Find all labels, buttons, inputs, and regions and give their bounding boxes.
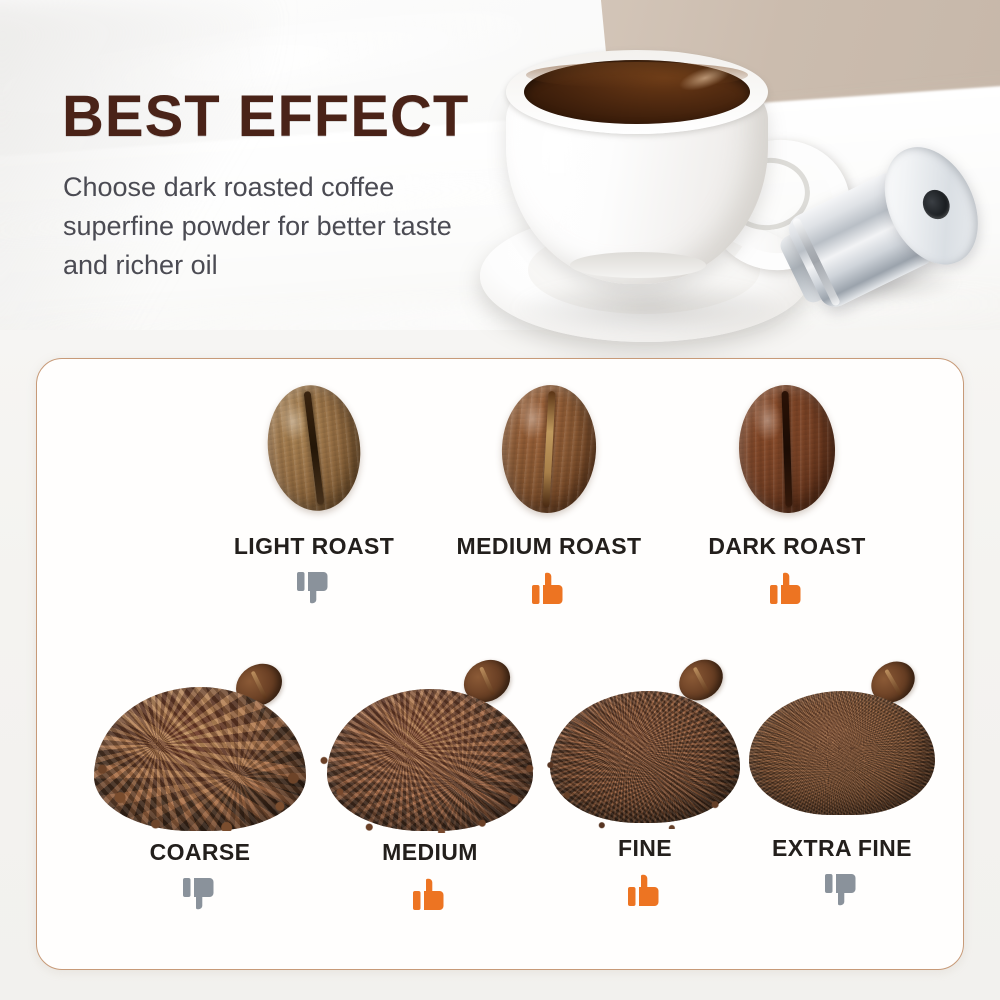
thumbs-down-icon (824, 872, 860, 915)
roast-label: MEDIUM ROAST (414, 533, 684, 560)
roast-label: LIGHT ROAST (179, 533, 449, 560)
grind-row: COARSE MEDIUM (37, 647, 963, 959)
roast-item-light: LIGHT ROAST (179, 385, 449, 613)
cup-highlight (536, 116, 578, 236)
grind-label: EXTRA FINE (727, 835, 957, 862)
grind-item-extra-fine: EXTRA FINE (727, 663, 957, 915)
thumbs-up-icon (769, 570, 805, 613)
comparison-card: LIGHT ROAST MEDIUM ROAST (36, 358, 964, 970)
thumbs-down-icon (182, 876, 218, 919)
thumbs-up-icon (531, 570, 567, 613)
page-subtitle: Choose dark roasted coffee superfine pow… (63, 168, 483, 285)
thumbs-up-icon (627, 872, 663, 915)
infographic-root: BEST EFFECT Choose dark roasted coffee s… (0, 0, 1000, 1000)
cup-foot (570, 252, 706, 278)
hero-product-scene (440, 20, 1000, 350)
roast-item-dark: DARK ROAST (652, 385, 922, 613)
thumbs-down-icon (296, 570, 332, 613)
cup-shadow (510, 278, 790, 338)
grind-mound (749, 691, 935, 815)
coffee-bean-medium (502, 385, 596, 513)
thumbs-up-icon (412, 876, 448, 919)
grind-scatter (89, 743, 311, 831)
grind-scatter (540, 735, 746, 829)
page-title: BEST EFFECT (62, 88, 469, 146)
coffee-grind-coarse (85, 655, 315, 835)
roast-label: DARK ROAST (652, 533, 922, 560)
roast-item-medium: MEDIUM ROAST (414, 385, 684, 613)
coffee-grind-fine (540, 659, 750, 831)
coffee-bean-dark (739, 385, 835, 513)
grind-scatter (315, 735, 541, 833)
coffee-grind-extra-fine (742, 663, 942, 827)
roast-row: LIGHT ROAST MEDIUM ROAST (37, 373, 963, 643)
coffee-bean-light (268, 385, 360, 511)
